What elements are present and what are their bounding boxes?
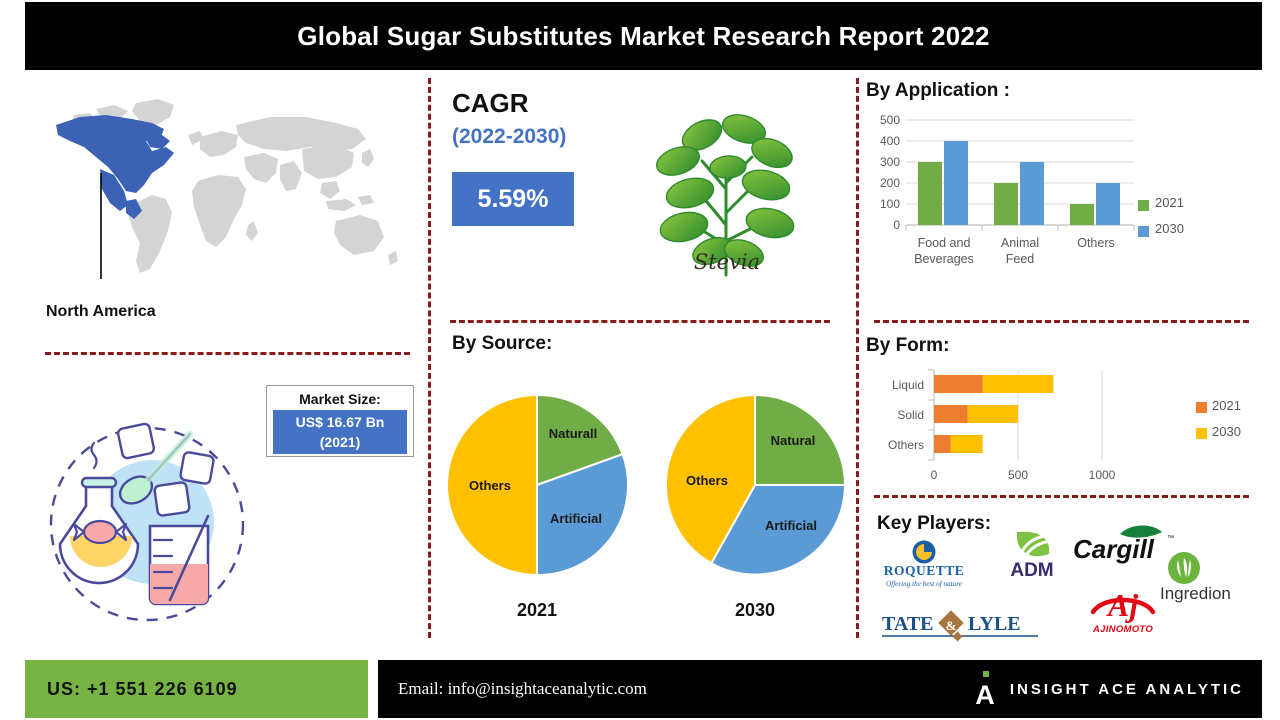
svg-text:Liquid: Liquid — [892, 378, 924, 392]
by-form-title: By Form: — [866, 335, 949, 357]
pie-2021-label-others: Others — [469, 478, 511, 493]
by-form-chart: Liquid Solid Others 0 500 1000 — [866, 362, 1166, 492]
divider-center-horizontal — [450, 320, 830, 323]
logo-roquette: ROQUETTE Offering the best of nature — [876, 540, 972, 592]
form-legend-label-2030: 2030 — [1212, 424, 1241, 439]
svg-text:Ingredion: Ingredion — [1160, 584, 1231, 603]
footer-phone: US: +1 551 226 6109 — [47, 679, 238, 700]
pie-2021-year: 2021 — [477, 600, 597, 621]
svg-text:0: 0 — [893, 218, 900, 232]
svg-text:0: 0 — [931, 468, 938, 482]
pie-2021-label-natural: Naturall — [549, 426, 597, 441]
svg-text:1000: 1000 — [1089, 468, 1116, 482]
pie-2030-label-artificial: Artificial — [765, 518, 817, 533]
pie-2030-label-natural: Natural — [771, 433, 816, 448]
svg-text:Beverages: Beverages — [914, 252, 974, 266]
key-players-title: Key Players: — [877, 513, 991, 535]
svg-text:Cargill: Cargill — [1073, 534, 1155, 564]
svg-text:Aj: Aj — [1106, 587, 1138, 623]
pie-chart-2021: Naturall Artificial Others — [442, 390, 632, 580]
cagr-value-badge: 5.59% — [452, 172, 574, 226]
svg-text:Food and: Food and — [918, 236, 971, 250]
sugar-lab-illustration — [32, 412, 262, 637]
market-size-value-badge: US$ 16.67 Bn (2021) — [273, 410, 407, 454]
logo-adm: ADM — [995, 528, 1069, 580]
svg-text:ADM: ADM — [1010, 560, 1053, 580]
app-legend-label-2021: 2021 — [1155, 195, 1184, 210]
brand-name: INSIGHT ACE ANALYTIC — [1010, 681, 1244, 698]
stevia-caption: Stevia — [672, 250, 782, 274]
market-size-year: (2021) — [320, 432, 360, 452]
logo-ingredion: Ingredion — [1160, 552, 1262, 604]
svg-text:Solid: Solid — [897, 408, 924, 422]
svg-text:Animal: Animal — [1001, 236, 1039, 250]
pie-chart-2030: Natural Artificial Others — [660, 390, 850, 580]
svg-text:300: 300 — [880, 155, 900, 169]
by-source-title: By Source: — [452, 333, 552, 355]
pie-2030-label-others: Others — [686, 473, 728, 488]
footer-bar: Email: info@insightaceanalytic.com A INS… — [378, 660, 1262, 718]
infographic-page: Global Sugar Substitutes Market Research… — [0, 0, 1280, 720]
svg-text:TATE: TATE — [882, 613, 934, 635]
svg-text:LYLE: LYLE — [968, 613, 1021, 635]
market-size-amount: US$ 16.67 Bn — [296, 412, 385, 432]
svg-text:400: 400 — [880, 134, 900, 148]
svg-text:500: 500 — [880, 113, 900, 127]
region-label: North America — [46, 303, 156, 321]
cagr-title: CAGR — [452, 88, 529, 119]
app-legend-swatch-2030 — [1138, 226, 1149, 237]
by-application-chart: 500 400 300 200 100 0 Foo — [866, 110, 1166, 280]
divider-right-horizontal-2 — [874, 495, 1249, 498]
svg-text:ROQUETTE: ROQUETTE — [884, 563, 965, 578]
header-bar: Global Sugar Substitutes Market Research… — [25, 2, 1262, 70]
svg-text:&: & — [946, 618, 957, 633]
svg-text:Others: Others — [1077, 236, 1115, 250]
market-size-card: Market Size: US$ 16.67 Bn (2021) — [266, 385, 414, 457]
footer-phone-box: US: +1 551 226 6109 — [25, 660, 368, 718]
cagr-period: (2022-2030) — [452, 125, 566, 149]
form-legend-swatch-2021 — [1196, 402, 1207, 413]
pie-2030-year: 2030 — [695, 600, 815, 621]
brand-lockup: A INSIGHT ACE ANALYTIC — [972, 671, 1244, 707]
world-map — [40, 95, 400, 285]
svg-text:Others: Others — [888, 438, 924, 452]
divider-vertical-left — [428, 78, 431, 638]
footer-email: Email: info@insightaceanalytic.com — [398, 679, 647, 699]
svg-text:100: 100 — [880, 197, 900, 211]
divider-vertical-right — [856, 78, 859, 638]
form-legend-swatch-2030 — [1196, 428, 1207, 439]
pie-2021-label-artificial: Artificial — [550, 511, 602, 526]
market-size-title: Market Size: — [299, 391, 381, 407]
form-legend-label-2021: 2021 — [1212, 398, 1241, 413]
page-title: Global Sugar Substitutes Market Research… — [297, 21, 989, 52]
svg-text:500: 500 — [1008, 468, 1028, 482]
divider-left-horizontal — [45, 352, 410, 355]
svg-text:AJINOMOTO: AJINOMOTO — [1092, 624, 1153, 635]
svg-text:200: 200 — [880, 176, 900, 190]
app-legend-label-2030: 2030 — [1155, 221, 1184, 236]
svg-text:™: ™ — [1167, 535, 1174, 542]
divider-right-horizontal-1 — [874, 320, 1249, 323]
app-legend-swatch-2021 — [1138, 200, 1149, 211]
logo-ajinomoto: Aj AJINOMOTO — [1085, 582, 1161, 638]
svg-text:A: A — [975, 680, 995, 707]
logo-tate-lyle: TATE & LYLE — [880, 610, 1040, 644]
by-application-title: By Application : — [866, 80, 1010, 102]
svg-text:Feed: Feed — [1006, 252, 1035, 266]
brand-logo-icon: A — [972, 671, 998, 707]
svg-text:Offering the best of nature: Offering the best of nature — [886, 580, 963, 588]
